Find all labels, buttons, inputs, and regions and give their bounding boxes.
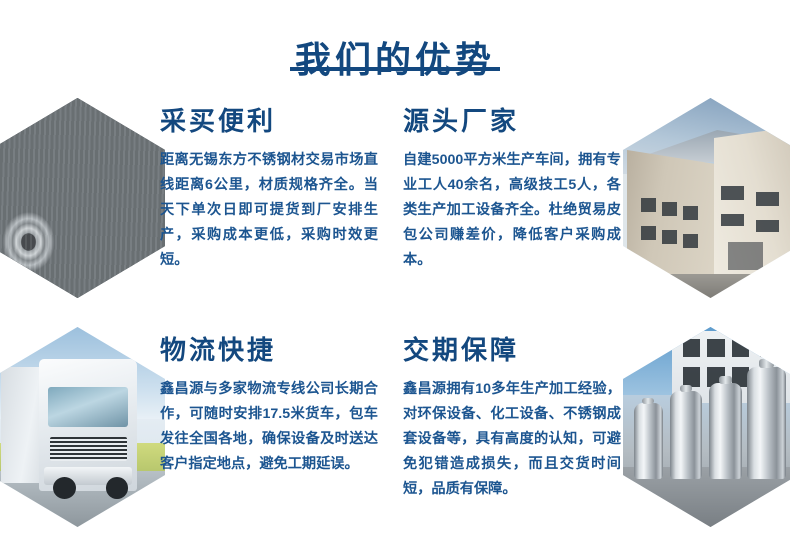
feature-card-procurement-convenience: 采买便利 距离无锡东方不锈钢材交易市场直线距离6公里，材质规格齐全。当天下单次日… bbox=[0, 90, 395, 319]
feature-body: 鑫昌源与多家物流专线公司长期合作，可随时安排17.5米货车，包车发往全国各地，确… bbox=[160, 377, 378, 477]
feature-card-fast-logistics: 物流快捷 鑫昌源与多家物流专线公司长期合作，可随时安排17.5米货车，包车发往全… bbox=[0, 319, 395, 548]
feature-body: 自建5000平方米生产车间，拥有专业工人40余名，高级技工5人，各类生产加工设备… bbox=[403, 148, 621, 273]
feature-heading: 交期保障 bbox=[403, 333, 621, 367]
feature-body: 距离无锡东方不锈钢材交易市场直线距离6公里，材质规格齐全。当天下单次日即可提货到… bbox=[160, 148, 378, 273]
title-underline-rule bbox=[290, 67, 500, 71]
feature-heading: 物流快捷 bbox=[160, 333, 378, 367]
delivery-truck-photo bbox=[0, 327, 165, 527]
feature-heading: 采买便利 bbox=[160, 104, 378, 138]
feature-text-block: 源头厂家 自建5000平方米生产车间，拥有专业工人40余名，高级技工5人，各类生… bbox=[403, 104, 621, 273]
feature-text-block: 采买便利 距离无锡东方不锈钢材交易市场直线距离6公里，材质规格齐全。当天下单次日… bbox=[160, 104, 378, 273]
feature-text-block: 交期保障 鑫昌源拥有10多年生产加工经验，对环保设备、化工设备、不锈钢成套设备等… bbox=[403, 333, 621, 502]
page-title: 我们的优势 bbox=[295, 38, 495, 82]
feature-card-source-manufacturer: 源头厂家 自建5000平方米生产车间，拥有专业工人40余名，高级技工5人，各类生… bbox=[395, 90, 790, 319]
feature-text-block: 物流快捷 鑫昌源与多家物流专线公司长期合作，可随时安排17.5米货车，包车发往全… bbox=[160, 333, 378, 477]
feature-heading: 源头厂家 bbox=[403, 104, 621, 138]
factory-building-photo bbox=[623, 98, 790, 298]
stainless-steel-tanks-photo bbox=[623, 327, 790, 527]
steel-coils-photo bbox=[0, 98, 165, 298]
feature-card-delivery-guarantee: 交期保障 鑫昌源拥有10多年生产加工经验，对环保设备、化工设备、不锈钢成套设备等… bbox=[395, 319, 790, 548]
features-grid: 采买便利 距离无锡东方不锈钢材交易市场直线距离6公里，材质规格齐全。当天下单次日… bbox=[0, 90, 790, 548]
feature-body: 鑫昌源拥有10多年生产加工经验，对环保设备、化工设备、不锈钢成套设备等，具有高度… bbox=[403, 377, 621, 502]
